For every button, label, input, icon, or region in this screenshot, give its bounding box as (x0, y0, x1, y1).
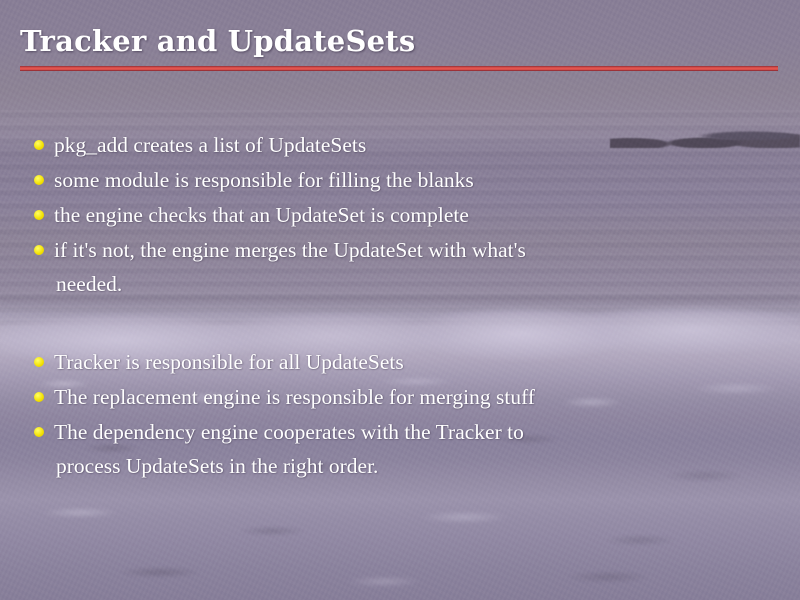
slide-title: Tracker and UpdateSets (20, 24, 415, 58)
bullet-list: pkg_add creates a list of UpdateSets som… (34, 131, 754, 487)
title-underline-rule (20, 66, 778, 71)
list-item-label: The dependency engine cooperates with th… (54, 418, 754, 447)
list-item: The dependency engine cooperates with th… (34, 418, 754, 481)
list-item-label: some module is responsible for filling t… (54, 166, 754, 195)
bullet-dot-icon (34, 357, 44, 367)
list-item-label: if it's not, the engine merges the Updat… (54, 236, 754, 265)
list-item-label: pkg_add creates a list of UpdateSets (54, 131, 754, 160)
list-item: some module is responsible for filling t… (34, 166, 754, 195)
bullet-dot-icon (34, 175, 44, 185)
bullet-group-1: pkg_add creates a list of UpdateSets som… (34, 131, 754, 299)
bullet-dot-icon (34, 245, 44, 255)
presentation-slide: Tracker and UpdateSets pkg_add creates a… (0, 0, 800, 600)
list-item: pkg_add creates a list of UpdateSets (34, 131, 754, 160)
bullet-dot-icon (34, 210, 44, 220)
bullet-group-2: Tracker is responsible for all UpdateSet… (34, 348, 754, 481)
list-item: The replacement engine is responsible fo… (34, 383, 754, 412)
list-item-label: The replacement engine is responsible fo… (54, 383, 754, 412)
slide-content: Tracker and UpdateSets pkg_add creates a… (0, 0, 800, 600)
list-item: Tracker is responsible for all UpdateSet… (34, 348, 754, 377)
list-item-continuation: process UpdateSets in the right order. (54, 452, 754, 481)
list-item-continuation: needed. (54, 270, 754, 299)
bullet-dot-icon (34, 392, 44, 402)
list-item: the engine checks that an UpdateSet is c… (34, 201, 754, 230)
list-item-label: Tracker is responsible for all UpdateSet… (54, 348, 754, 377)
bullet-dot-icon (34, 140, 44, 150)
bullet-dot-icon (34, 427, 44, 437)
list-item-label: the engine checks that an UpdateSet is c… (54, 201, 754, 230)
bullet-group-spacer (34, 305, 754, 348)
list-item: if it's not, the engine merges the Updat… (34, 236, 754, 299)
